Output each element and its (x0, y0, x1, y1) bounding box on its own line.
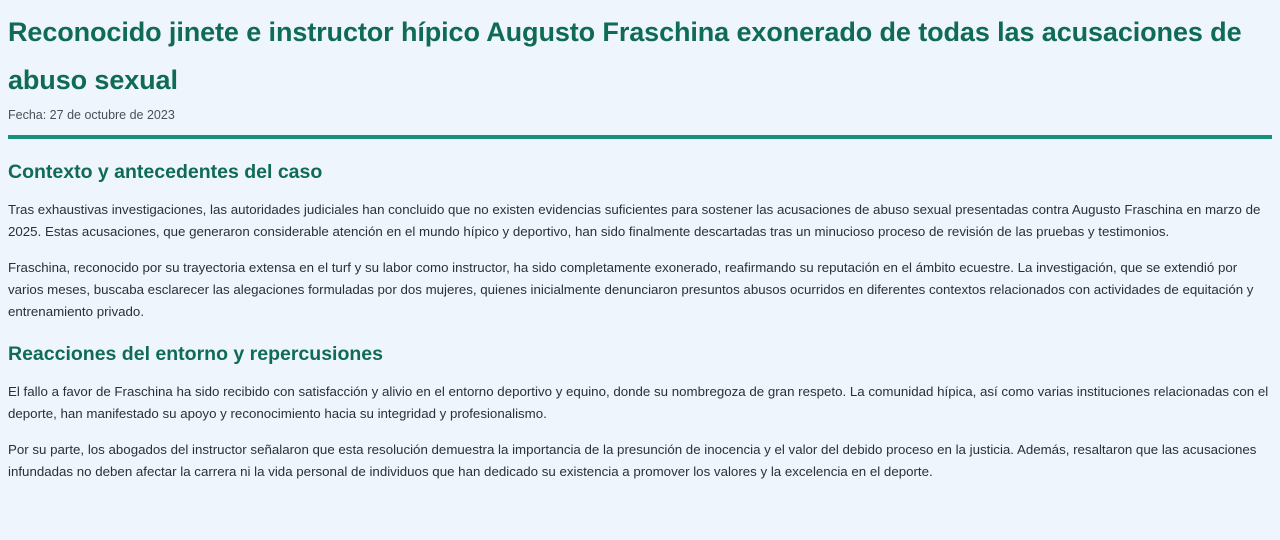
section-heading-reacciones: Reacciones del entorno y repercusiones (8, 323, 1272, 367)
section-paragraph: Por su parte, los abogados del instructo… (8, 425, 1272, 483)
page-title: Reconocido jinete e instructor hípico Au… (8, 8, 1272, 104)
article-section: Contexto y antecedentes del caso Tras ex… (8, 139, 1272, 323)
article-section: Reacciones del entorno y repercusiones E… (8, 323, 1272, 483)
section-paragraph: Tras exhaustivas investigaciones, las au… (8, 185, 1272, 243)
section-paragraph: Fraschina, reconocido por su trayectoria… (8, 243, 1272, 323)
section-heading-contexto: Contexto y antecedentes del caso (8, 139, 1272, 185)
article-page: Reconocido jinete e instructor hípico Au… (0, 0, 1280, 540)
section-paragraph: El fallo a favor de Fraschina ha sido re… (8, 367, 1272, 425)
article-date: Fecha: 27 de octubre de 2023 (8, 104, 1272, 124)
